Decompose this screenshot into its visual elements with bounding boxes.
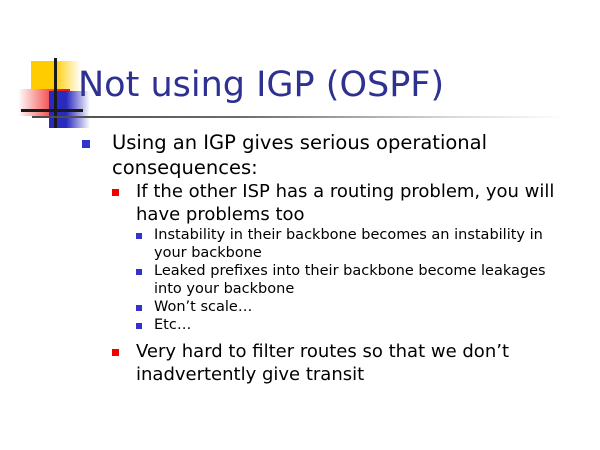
- slide-title: Not using IGP (OSPF): [78, 64, 444, 106]
- bullet-item-level2: If the other ISP has a routing problem, …: [112, 180, 600, 340]
- slide-body: Using an IGP gives serious operational c…: [0, 130, 600, 388]
- bullet-text-level1: Using an IGP gives serious operational c…: [112, 130, 504, 180]
- bullet-marker-icon: [112, 189, 119, 196]
- bullet-text-level3-2: Won’t scale…: [154, 298, 574, 316]
- bullet-item-level1: Using an IGP gives serious operational c…: [82, 130, 600, 386]
- title-underline-rule: [32, 116, 568, 118]
- bullet-marker-icon: [136, 305, 142, 311]
- slide: Not using IGP (OSPF) Using an IGP gives …: [0, 0, 600, 450]
- bullet-item-level2: Very hard to filter routes so that we do…: [112, 340, 600, 386]
- bullet-item-level3: Leaked prefixes into their backbone beco…: [136, 262, 600, 298]
- bullet-item-level3: Instability in their backbone becomes an…: [136, 226, 600, 262]
- bullet-marker-icon: [82, 140, 90, 148]
- bullet-list-level2: If the other ISP has a routing problem, …: [112, 180, 600, 386]
- bullet-text-level2-a: If the other ISP has a routing problem, …: [136, 180, 578, 226]
- bullet-text-level3-1: Leaked prefixes into their backbone beco…: [154, 262, 574, 298]
- bullet-text-level3-0: Instability in their backbone becomes an…: [154, 226, 574, 262]
- bullet-marker-icon: [136, 269, 142, 275]
- bullet-marker-icon: [136, 323, 142, 329]
- bullet-text-level3-3: Etc…: [154, 316, 574, 334]
- crosshair-horizontal-line-icon: [21, 109, 83, 112]
- bullet-item-level3: Etc…: [136, 316, 600, 334]
- bullet-marker-icon: [136, 233, 142, 239]
- bullet-list-level3: Instability in their backbone becomes an…: [136, 226, 600, 334]
- bullet-list-level1: Using an IGP gives serious operational c…: [0, 130, 600, 386]
- bullet-marker-icon: [112, 349, 119, 356]
- bullet-text-level2-b: Very hard to filter routes so that we do…: [136, 340, 578, 386]
- bullet-item-level3: Won’t scale…: [136, 298, 600, 316]
